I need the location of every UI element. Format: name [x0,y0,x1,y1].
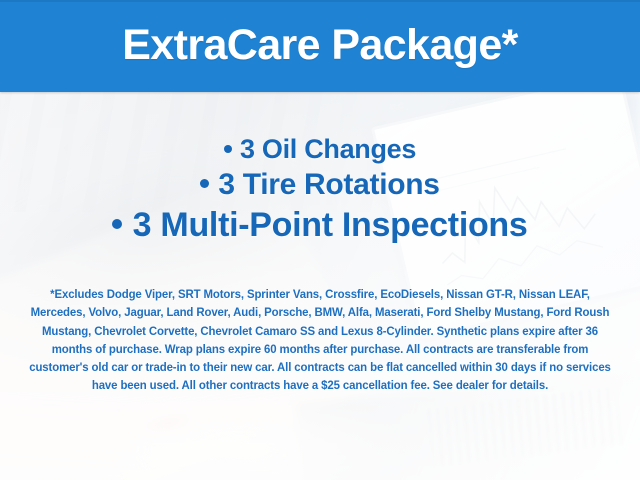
list-item: 3 Multi-Point Inspections [0,204,640,247]
extracare-package-ad: ExtraCare Package* 3 Oil Changes 3 Tire … [0,0,640,480]
benefits-list: 3 Oil Changes 3 Tire Rotations 3 Multi-P… [0,132,640,247]
benefit-label: 3 Oil Changes [240,134,416,164]
list-item: 3 Tire Rotations [0,166,640,204]
disclaimer-text: *Excludes Dodge Viper, SRT Motors, Sprin… [26,286,613,396]
bullet-dot-icon [200,179,209,188]
header-banner: ExtraCare Package* [0,0,640,92]
bullet-dot-icon [112,219,122,229]
bullet-dot-icon [224,145,232,153]
benefit-label: 3 Tire Rotations [218,168,439,201]
benefit-label: 3 Multi-Point Inspections [133,206,528,244]
page-title: ExtraCare Package* [122,24,518,67]
list-item: 3 Oil Changes [0,132,640,166]
